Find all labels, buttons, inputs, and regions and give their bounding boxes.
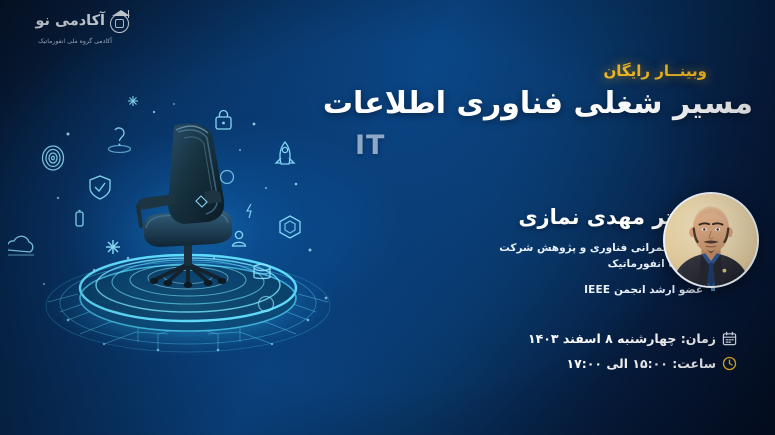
webinar-poster: آکادمی نو آکادمی گروه ملی انفورماتیک <box>0 0 775 435</box>
page-title: مسیر شغلی فناوری اطلاعات <box>323 86 753 121</box>
schedule-time-row: ساعت: ۱۵:۰۰ الی ۱۷:۰۰ <box>437 355 737 371</box>
illustration-svg <box>8 88 368 398</box>
eyebrow-free-webinar: وبینــار رایگان <box>603 62 707 80</box>
schedule-date-label: زمان: چهارشنبه ۸ اسفند ۱۴۰۳ <box>528 330 716 346</box>
clock-icon <box>722 356 737 371</box>
logo-text: آکادمی نو <box>35 13 105 29</box>
speaker-portrait <box>665 194 757 286</box>
graduation-cap-icon <box>108 8 134 34</box>
subtitle-it-code: IT <box>355 130 385 161</box>
illustration-office-chair-tech-platform <box>8 88 368 398</box>
list-item: عضو ارشد انجمن IEEE <box>480 282 715 298</box>
brand-logo[interactable]: آکادمی نو آکادمی گروه ملی انفورماتیک <box>14 6 134 54</box>
schedule-date-row: زمان: چهارشنبه ۸ اسفند ۱۴۰۳ <box>437 330 737 346</box>
calendar-icon <box>722 331 737 346</box>
poster-content: وبینــار رایگان مسیر شغلی فناوری اطلاعات… <box>355 0 775 435</box>
logo-tagline: آکادمی گروه ملی انفورماتیک <box>16 38 134 45</box>
schedule-time-label: ساعت: ۱۵:۰۰ الی ۱۷:۰۰ <box>566 355 716 371</box>
logo-row: آکادمی نو <box>14 6 134 36</box>
avatar <box>663 192 759 288</box>
schedule-block: زمان: چهارشنبه ۸ اسفند ۱۴۰۳ ساعت: ۱۵:۰۰ … <box>437 330 737 380</box>
